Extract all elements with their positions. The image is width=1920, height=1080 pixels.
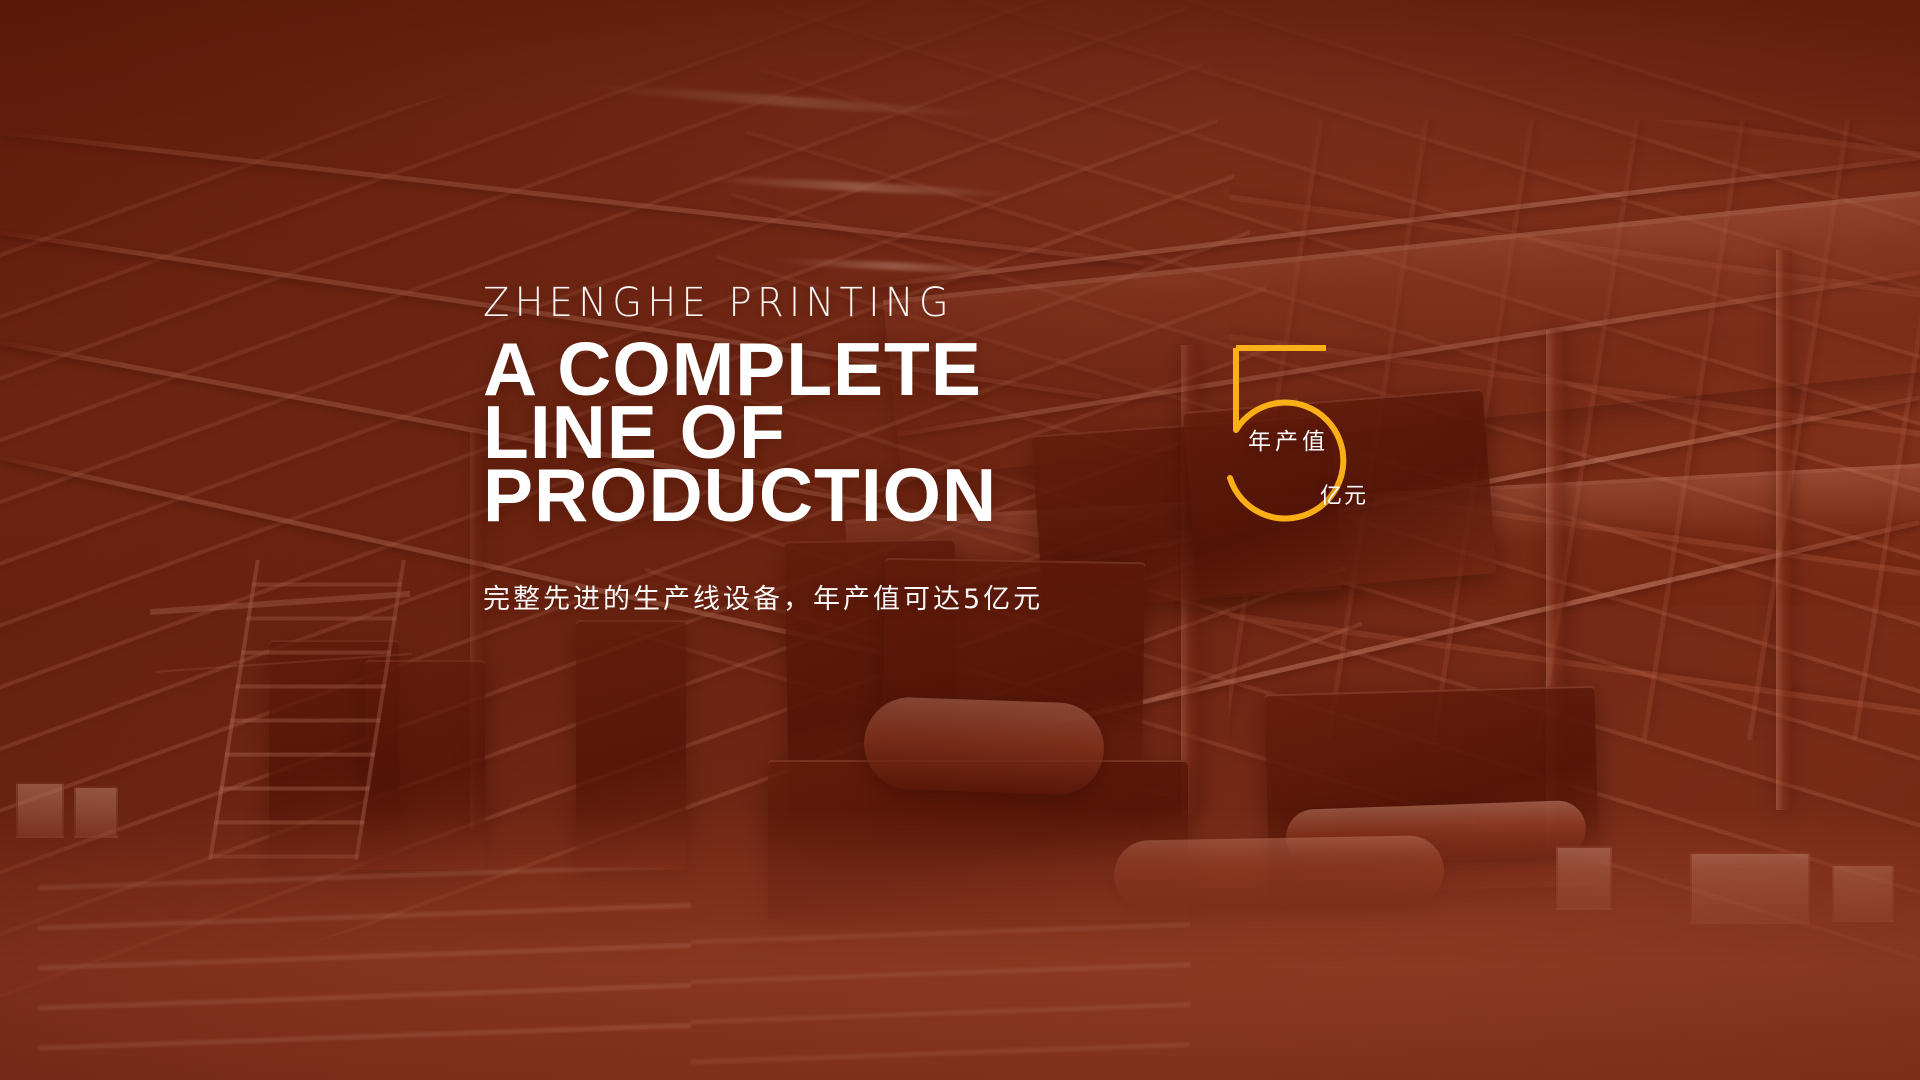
subtitle-text: 完整先进的生产线设备，年产值可达5亿元: [483, 577, 1243, 616]
page-title: A COMPLETE LINE OF PRODUCTION: [483, 338, 1243, 527]
copy-block: ZHENGHE PRINTING A COMPLETE LINE OF PROD…: [483, 282, 1243, 616]
annual-output-stat: 年产值 亿元: [1208, 338, 1468, 548]
stat-label: 年产值: [1248, 422, 1329, 456]
headline-line-3: PRODUCTION: [483, 464, 1243, 527]
hero-banner: ZHENGHE PRINTING A COMPLETE LINE OF PROD…: [0, 0, 1920, 1080]
brand-eyebrow: ZHENGHE PRINTING: [483, 282, 1213, 324]
banner-content: ZHENGHE PRINTING A COMPLETE LINE OF PROD…: [0, 0, 1920, 1080]
stat-unit: 亿元: [1320, 478, 1368, 510]
